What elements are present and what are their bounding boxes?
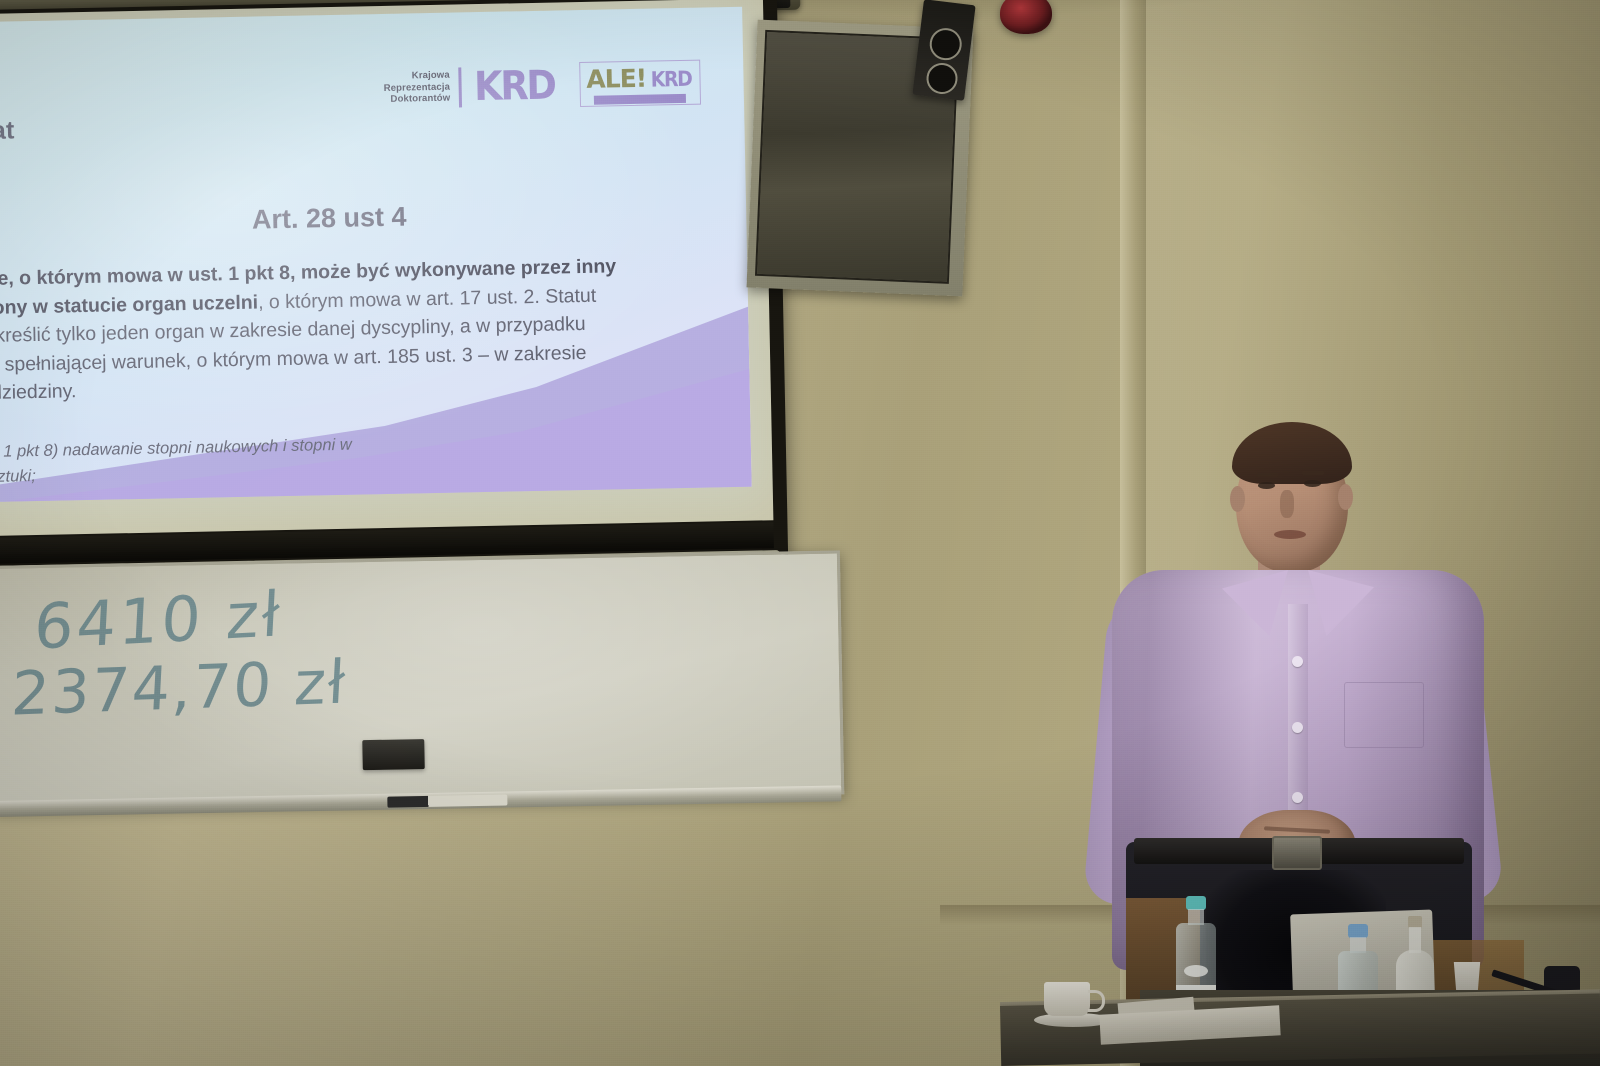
ale-krd-badge: ALE! KRD (579, 60, 701, 107)
krd-wordmark-icon: KRD (474, 68, 555, 104)
speaker-driver-bottom-icon (925, 61, 960, 96)
presenter-hair (1232, 422, 1352, 484)
krd-org-name: Krajowa Reprezentacja Doktorantów (383, 70, 450, 106)
projection-screen-surface: Krajowa Reprezentacja Doktorantów KRD AL… (0, 0, 773, 536)
coffee-cup[interactable] (1044, 982, 1090, 1016)
whiteboard-eraser[interactable] (362, 739, 425, 770)
krd-logo-lockup: Krajowa Reprezentacja Doktorantów KRD AL… (383, 60, 701, 111)
bottle-cap-1 (1186, 896, 1206, 910)
ale-krd-wordmark-icon: KRD (650, 67, 691, 92)
presenter-eye-right (1304, 480, 1321, 487)
presenter-belt-buckle (1272, 836, 1322, 870)
presentation-slide: Krajowa Reprezentacja Doktorantów KRD AL… (0, 7, 752, 502)
speaker-driver-top-icon (928, 26, 964, 62)
lecture-room-photo: Krajowa Reprezentacja Doktorantów KRD AL… (0, 0, 1600, 1066)
presenter-brow-left (1256, 473, 1278, 477)
krd-org-line-3: Doktorantów (384, 93, 451, 106)
projection-screen: Krajowa Reprezentacja Doktorantów KRD AL… (0, 0, 788, 580)
presenter-eye-left (1258, 482, 1275, 489)
shirt-pocket (1344, 682, 1424, 748)
presenter-nose (1280, 490, 1294, 518)
whiteboard-handwriting-line-2: 2374,70 zł (10, 647, 349, 729)
shirt-button-3 (1292, 792, 1303, 803)
whiteboard: 6410 zł 2374,70 zł (0, 550, 844, 810)
bottle-shoulder-label-1 (1184, 965, 1208, 977)
presenter-ear-right (1338, 484, 1353, 510)
presenter-mouth (1274, 530, 1306, 539)
shirt-button-2 (1292, 722, 1303, 733)
slide-body-text: danie, o którym mowa w ust. 1 pkt 8, moż… (0, 251, 688, 408)
slide-heading-partial: nat (0, 116, 15, 146)
whiteboard-marker[interactable] (387, 795, 507, 808)
bottle-cap-2 (1348, 924, 1368, 938)
slide-title: Art. 28 ust 4 (0, 196, 674, 241)
krd-divider (459, 67, 463, 107)
presenter-brow-right (1302, 471, 1324, 475)
ale-krd-row: ALE! KRD (586, 63, 693, 94)
fire-alarm-strobe-icon (1000, 0, 1052, 34)
ale-prefix-text: ALE! (586, 64, 646, 94)
presenter-ear-left (1230, 486, 1245, 512)
ale-underbar (594, 94, 686, 105)
shirt-button-1 (1292, 656, 1303, 667)
